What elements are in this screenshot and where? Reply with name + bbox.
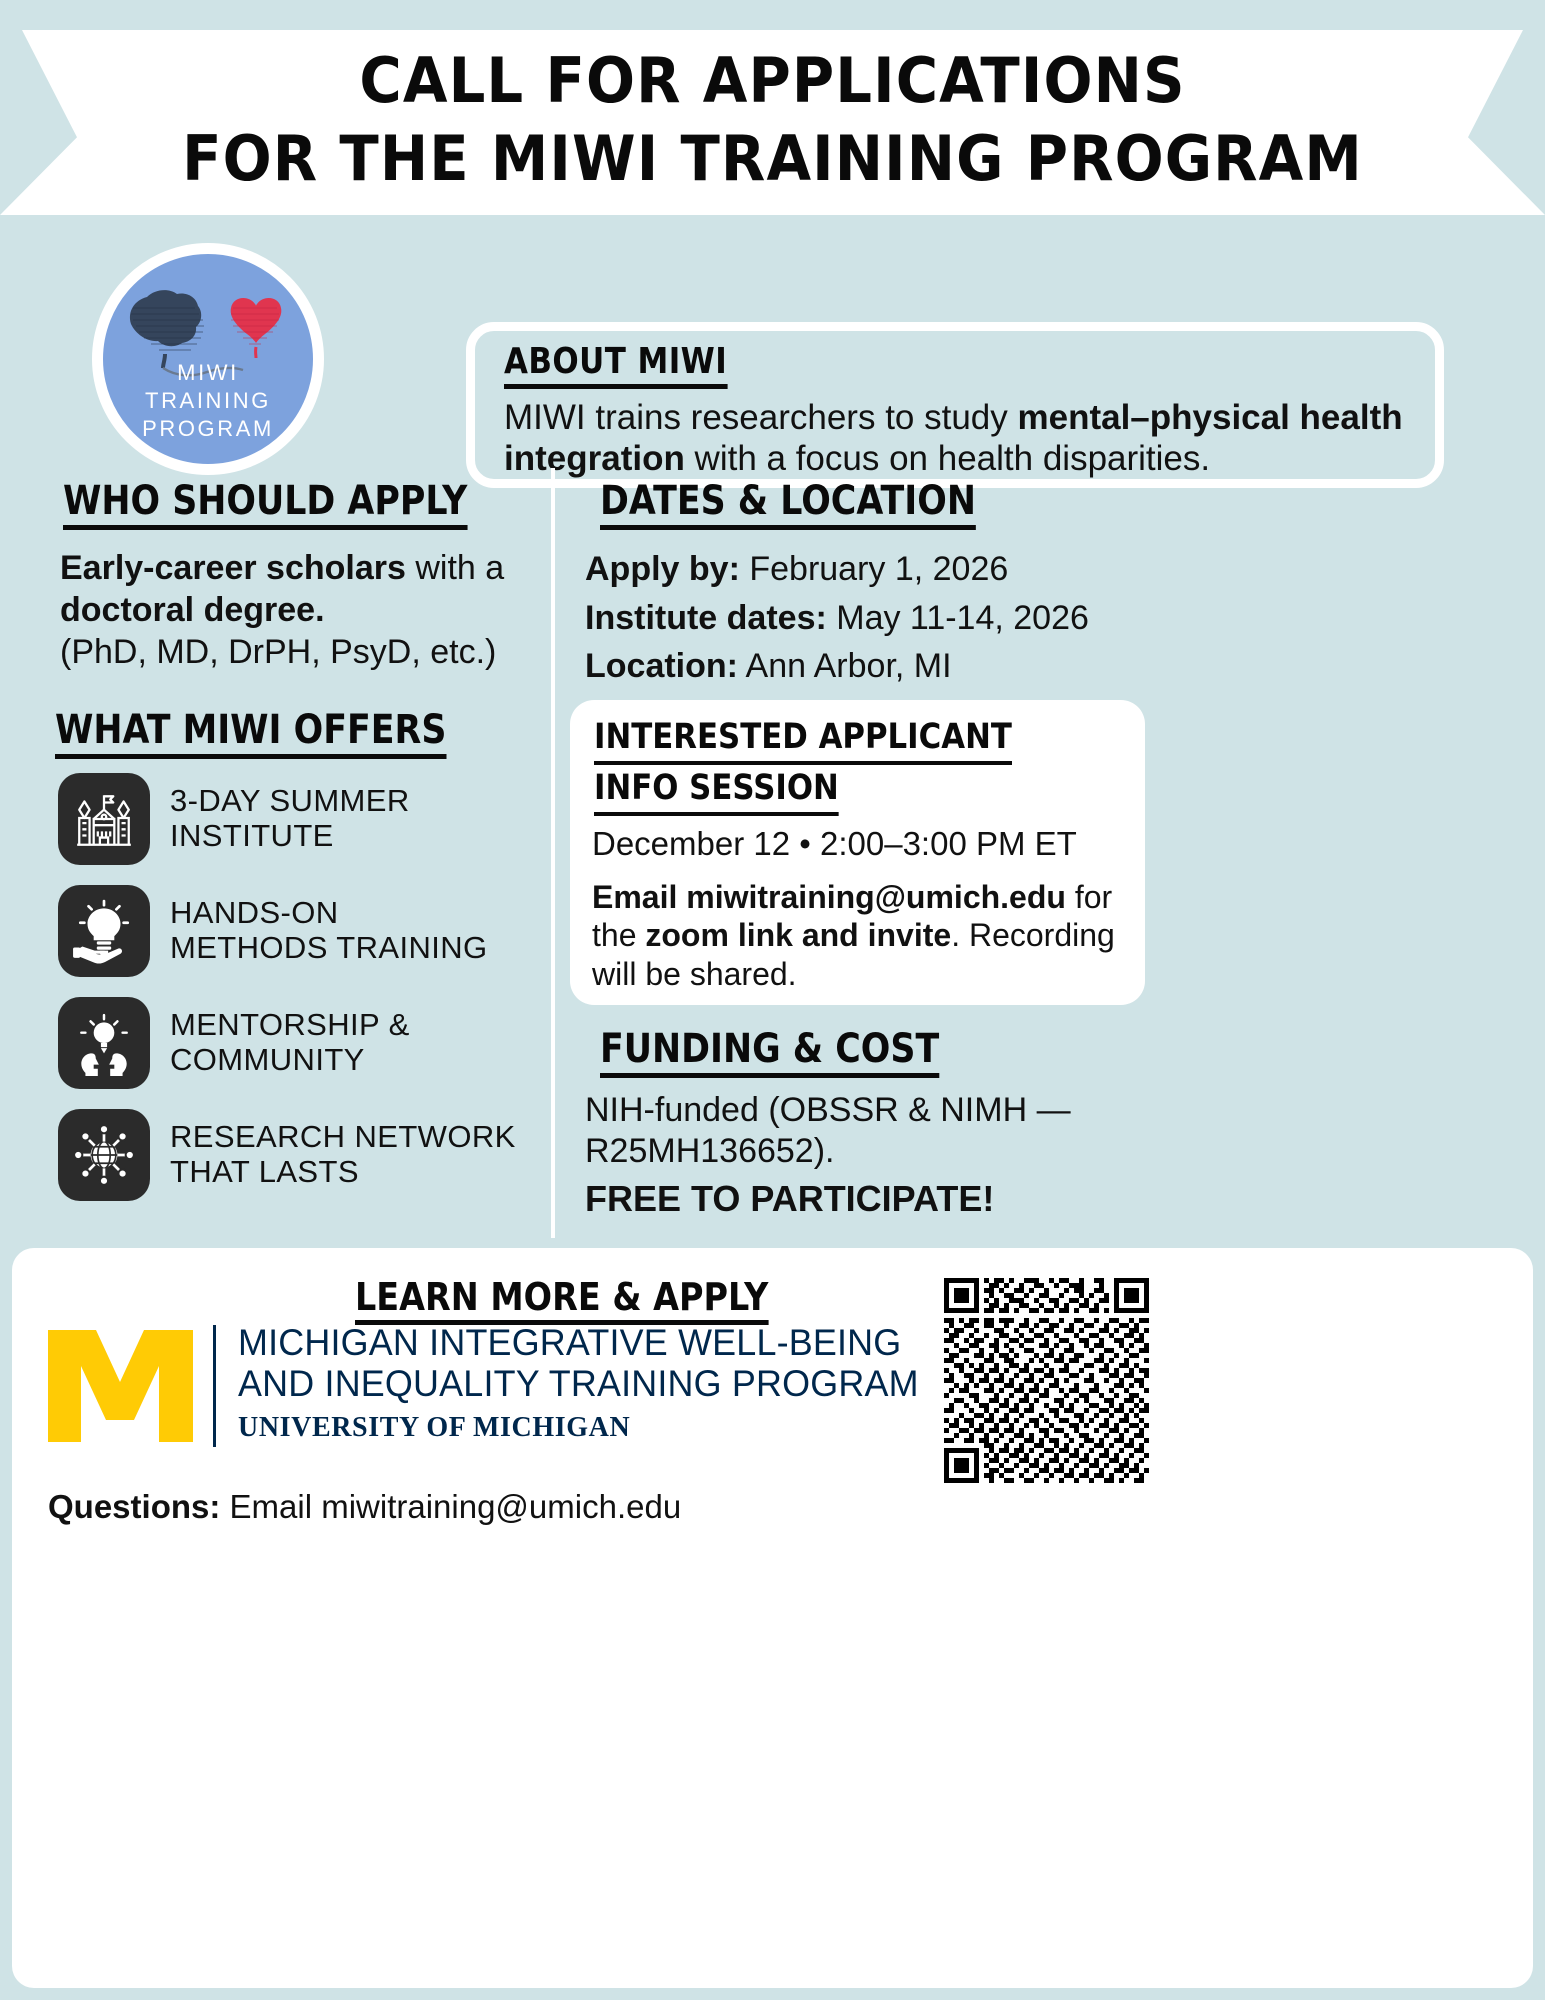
dates-row-value: May 11-14, 2026 (827, 599, 1089, 637)
brain-icon (130, 290, 204, 368)
info-session-datetime: December 12 • 2:00–3:00 PM ET (592, 825, 1137, 863)
unit-name: MICHIGAN INTEGRATIVE WELL-BEING AND INEQ… (238, 1322, 919, 1405)
unit-name-line-2: AND INEQUALITY TRAINING PROGRAM (238, 1363, 919, 1404)
free-to-participate-text: FREE TO PARTICIPATE! (585, 1178, 994, 1220)
who-mid: with a (406, 549, 504, 587)
who-bold-2: doctoral degree. (60, 591, 325, 629)
about-body: MIWI trains researchers to study mental–… (504, 397, 1424, 480)
dates-row: Apply by: February 1, 2026 (585, 545, 1365, 594)
dates-row: Location: Ann Arbor, MI (585, 642, 1365, 691)
offer-label-line-1: RESEARCH NETWORK (170, 1120, 516, 1155)
offer-label-line-2: INSTITUTE (170, 819, 410, 854)
university-building-icon (58, 773, 150, 865)
questions-line: Questions: Email miwitraining@umich.edu (48, 1488, 681, 1526)
what-miwi-offers-heading: WHAT MIWI OFFERS (55, 707, 446, 759)
offer-label-line-2: THAT LASTS (170, 1155, 516, 1190)
dates-row: Institute dates: May 11-14, 2026 (585, 594, 1365, 643)
info-session-email[interactable]: Email miwitraining@umich.edu (592, 879, 1066, 915)
dates-row-value: February 1, 2026 (740, 550, 1008, 588)
logo-line-3: PROGRAM (103, 415, 313, 443)
offer-label-mentorship: MENTORSHIP & COMMUNITY (170, 1008, 410, 1077)
about-heading: ABOUT MIWI (504, 341, 727, 389)
info-session-body: Email miwitraining@umich.edu for the zoo… (592, 878, 1142, 993)
offer-label-line-1: HANDS-ON (170, 896, 488, 931)
offer-label-summer-institute: 3-DAY SUMMER INSTITUTE (170, 784, 410, 853)
funding-cost-heading: FUNDING & COST (600, 1026, 939, 1078)
um-block-m-logo (48, 1330, 193, 1442)
who-bold-1: Early-career scholars (60, 549, 406, 587)
miwi-logo-badge: MIWI TRAINING PROGRAM (92, 243, 324, 475)
network-globe-icon (58, 1109, 150, 1201)
who-should-apply-heading: WHO SHOULD APPLY (63, 478, 467, 530)
offer-label-methods-training: HANDS-ON METHODS TRAINING (170, 896, 488, 965)
logo-line-1: MIWI (103, 359, 313, 387)
offer-label-line-2: COMMUNITY (170, 1043, 410, 1078)
unit-subtitle: UNIVERSITY OF MICHIGAN (238, 1412, 630, 1444)
info-session-heading: INTERESTED APPLICANT INFO SESSION (594, 714, 1012, 816)
heart-icon (231, 298, 282, 358)
questions-email[interactable]: Email miwitraining@umich.edu (220, 1488, 681, 1525)
who-should-apply-body: Early-career scholars with a doctoral de… (60, 548, 540, 673)
two-heads-lightbulb-icon (58, 997, 150, 1089)
about-body-post: with a focus on health disparities. (685, 439, 1210, 478)
info-session-heading-line-2: INFO SESSION (594, 765, 839, 816)
who-detail: (PhD, MD, DrPH, PsyD, etc.) (60, 633, 496, 671)
hand-holding-lightbulb-icon (58, 885, 150, 977)
title-line-2: FOR THE MIWI TRAINING PROGRAM (54, 122, 1491, 195)
qr-code[interactable] (944, 1278, 1149, 1483)
learn-more-apply-heading: LEARN MORE & APPLY (355, 1275, 768, 1325)
dates-row-value: Ann Arbor, MI (738, 647, 952, 685)
offer-label-research-network: RESEARCH NETWORK THAT LASTS (170, 1120, 516, 1189)
questions-label: Questions: (48, 1488, 220, 1525)
dates-row-label: Apply by: (585, 550, 740, 588)
offer-label-line-1: MENTORSHIP & (170, 1008, 410, 1043)
info-session-bold-2: zoom link and invite (645, 917, 951, 953)
dates-location-heading: DATES & LOCATION (600, 478, 976, 530)
logo-text: MIWI TRAINING PROGRAM (103, 359, 313, 443)
info-session-card: INTERESTED APPLICANT INFO SESSION Decemb… (570, 700, 1145, 1005)
offer-label-line-2: METHODS TRAINING (170, 931, 488, 966)
info-session-heading-line-1: INTERESTED APPLICANT (594, 714, 1012, 765)
offer-item-research-network: RESEARCH NETWORK THAT LASTS (58, 1109, 558, 1201)
offer-label-line-1: 3-DAY SUMMER (170, 784, 410, 819)
offer-item-methods-training: HANDS-ON METHODS TRAINING (58, 885, 558, 977)
offer-item-summer-institute: 3-DAY SUMMER INSTITUTE (58, 773, 558, 865)
dates-location-list: Apply by: February 1, 2026 Institute dat… (585, 545, 1365, 691)
logo-divider-rule (213, 1325, 216, 1447)
about-body-pre: MIWI trains researchers to study (504, 398, 1017, 437)
dates-row-label: Institute dates: (585, 599, 827, 637)
unit-name-line-1: MICHIGAN INTEGRATIVE WELL-BEING (238, 1322, 919, 1363)
title-line-1: CALL FOR APPLICATIONS (54, 44, 1491, 117)
dates-row-label: Location: (585, 647, 738, 685)
logo-line-2: TRAINING (103, 387, 313, 415)
funding-cost-body: NIH-funded (OBSSR & NIMH — R25MH136652). (585, 1090, 1185, 1172)
offer-item-mentorship: MENTORSHIP & COMMUNITY (58, 997, 558, 1089)
about-miwi-card: ABOUT MIWI MIWI trains researchers to st… (466, 322, 1444, 488)
